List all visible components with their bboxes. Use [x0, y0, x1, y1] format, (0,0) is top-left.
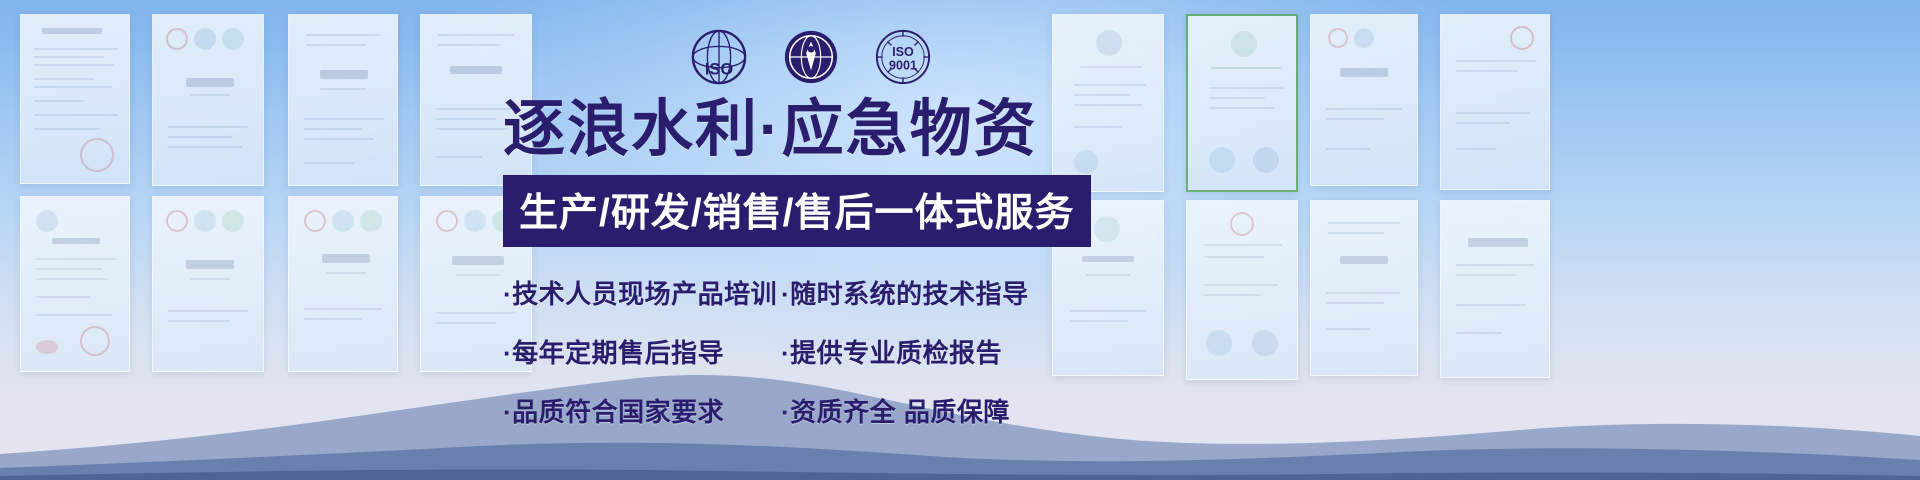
banner-title: 逐浪水利·应急物资	[503, 98, 1103, 161]
promo-banner: ISO	[0, 0, 1920, 480]
banner-content: 逐浪水利·应急物资 生产/研发/销售/售后一体式服务 ·技术人员现场产品培训 ·…	[503, 98, 1103, 429]
certificate-thumb	[20, 14, 130, 184]
emblem-badge	[782, 28, 840, 86]
iso9001-badge: ISO 9001	[874, 28, 932, 86]
certificate-thumb	[152, 196, 264, 372]
feature-bullet: ·随时系统的技术指导	[781, 274, 1103, 311]
certificate-thumb	[1310, 14, 1418, 186]
certificate-thumb	[152, 14, 264, 186]
feature-bullet: ·每年定期售后指导	[503, 333, 781, 370]
feature-bullet: ·技术人员现场产品培训	[503, 274, 781, 311]
feature-bullet-grid: ·技术人员现场产品培训 ·随时系统的技术指导 ·每年定期售后指导 ·提供专业质检…	[503, 274, 1103, 429]
iso9001-badge-label-top: ISO	[892, 45, 914, 59]
feature-bullet: ·品质符合国家要求	[503, 392, 781, 429]
certificate-thumb	[288, 14, 398, 186]
feature-bullet: ·提供专业质检报告	[781, 333, 1103, 370]
iso-badge: ISO	[690, 28, 748, 86]
certification-badges: ISO	[690, 28, 932, 86]
feature-bullet: ·资质齐全 品质保障	[781, 392, 1103, 429]
iso9001-badge-label-bottom: 9001	[889, 59, 917, 73]
iso-badge-label: ISO	[705, 60, 734, 78]
certificate-thumb	[288, 196, 398, 372]
certificate-thumb-green	[1186, 14, 1298, 192]
certificate-thumb	[20, 196, 130, 372]
banner-subtitle-band: 生产/研发/销售/售后一体式服务	[503, 175, 1091, 247]
certificate-thumb	[1440, 14, 1550, 190]
